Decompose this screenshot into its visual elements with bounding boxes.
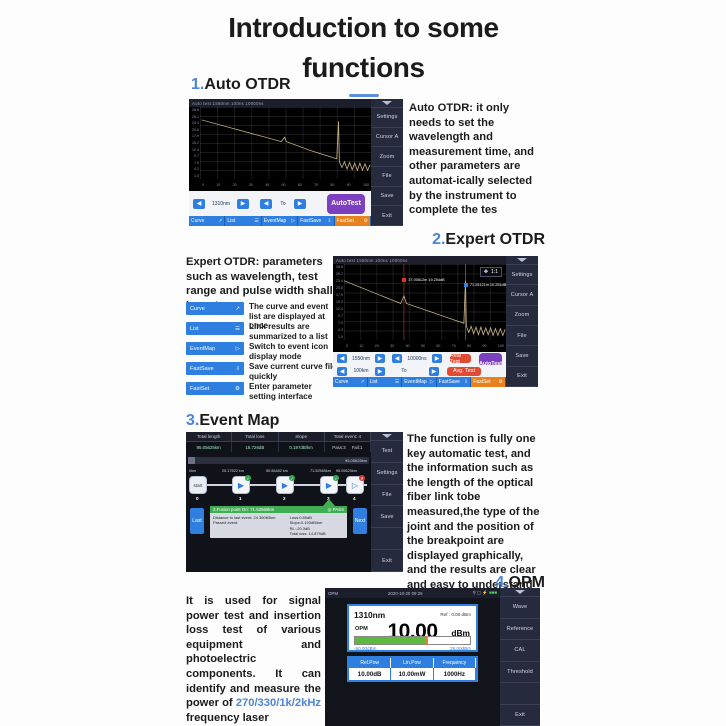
menu-item-settings[interactable]: Settings <box>371 108 403 128</box>
splice-icon: ▶ <box>238 481 244 490</box>
y-tick: 23.4 <box>192 121 199 125</box>
cursor-b-swatch <box>464 283 468 287</box>
summary-header-row: Total length Total loss Slope Total even… <box>186 432 371 442</box>
event-node-index-4: 4 <box>353 496 356 501</box>
opm-table-header-row: Rel.Pow Lin.Pow Frequency <box>349 658 476 668</box>
pulse-decrement-button[interactable]: ◀ <box>392 354 402 363</box>
header-total-event: Total event: 4 <box>325 432 371 442</box>
auto-otdr-statusbar: Auto test 1550nm 100ns 10000ns <box>189 99 371 107</box>
y-tick: 12.4 <box>336 307 343 311</box>
auto-otdr-tabbar: Curve↗ List☰ EventMap▷ FastSave⇩ FastSet… <box>189 216 371 226</box>
status-badge-pass: ✓ <box>245 475 251 481</box>
avg-test-button[interactable]: Avg. Test <box>447 367 481 376</box>
x-tick: 70 <box>452 344 456 348</box>
event-node-2[interactable]: ▶ ✓ <box>276 476 294 494</box>
x-tick: 30 <box>249 183 253 187</box>
event-node-label-0: 0km <box>189 469 196 473</box>
x-tick: 20 <box>375 344 379 348</box>
cursor-a-marker[interactable]: 37.00612m 19.254dB <box>402 278 444 282</box>
device-expert-otdr: Auto test 1550nm 100ns 10000ns 28.8 26.1… <box>333 256 538 387</box>
x-tick: 20 <box>233 183 237 187</box>
menu-item-exit[interactable]: Exit <box>506 367 538 387</box>
legend-chip-fastsave[interactable]: FastSave⇩ <box>186 362 244 375</box>
menu-item-settings[interactable]: Settings <box>371 463 403 485</box>
list-icon: ☰ <box>395 379 399 385</box>
x-tick: 10 <box>216 183 220 187</box>
save-icon: ⇩ <box>235 366 240 372</box>
wavelength-value: 1310nm <box>208 201 234 207</box>
tab-fastsave[interactable]: FastSave⇩ <box>437 377 472 387</box>
detail-right-column: Loss:0.85dB Slope:0.193dB/km RL:-20.3dB … <box>290 515 344 537</box>
legend-chip-list[interactable]: List☰ <box>186 322 244 335</box>
event-node-label-4: 95.05625km <box>336 469 357 473</box>
detail-total-loss: Total loss: 14.879dB <box>290 531 344 536</box>
y-tick: 17.9 <box>192 134 199 138</box>
tab-label: List <box>227 218 235 224</box>
opm-wavelength: 1310nm <box>354 610 385 620</box>
tab-fastsave[interactable]: FastSave⇩ <box>298 216 334 226</box>
time-increment-button[interactable]: ▶ <box>294 199 306 209</box>
cursor-b-label: 71.25121m 10.251dB <box>470 283 506 287</box>
real-test-button[interactable]: Real Test <box>450 354 471 363</box>
start-label: start <box>194 483 203 488</box>
menu-item-reference[interactable]: Reference <box>500 619 540 641</box>
usb-icon: ⚲ <box>472 590 475 595</box>
opm-mode-label: OPM <box>328 591 338 596</box>
value-rel-pow: 10.00dB <box>349 668 391 680</box>
header-slope: Slope <box>279 432 325 442</box>
legend-row-list: List☰ Link results are summarized to a l… <box>186 322 337 341</box>
tab-label: List <box>370 379 378 385</box>
event-node-1[interactable]: ▶ ✓ <box>232 476 250 494</box>
menu-item-threshold[interactable]: Threshold <box>500 662 540 684</box>
menu-item-cursor-a[interactable]: Cursor A <box>506 285 538 305</box>
legend-chip-fastset[interactable]: FastSet⚙ <box>186 382 244 395</box>
menu-item-exit[interactable]: Exit <box>371 206 403 226</box>
header-rel-pow: Rel.Pow <box>349 658 391 668</box>
wavelength-increment-button[interactable]: ▶ <box>237 199 249 209</box>
menu-item-settings[interactable]: Settings <box>506 265 538 285</box>
sd-card-icon: ▢ <box>477 590 481 595</box>
tab-curve[interactable]: Curve↗ <box>333 377 368 387</box>
opm-description: It is used for signal power test and ins… <box>186 594 321 725</box>
fail-count: Fail:1 <box>352 445 363 450</box>
wavelength-increment-button[interactable]: ▶ <box>375 354 385 363</box>
event-map-side-menu: Test Settings File Save Exit <box>371 432 403 572</box>
menu-item-file[interactable]: File <box>371 167 403 187</box>
device-auto-otdr: Auto test 1550nm 100ns 10000ns 28.8 26.1… <box>189 99 403 226</box>
selected-event-caret-icon <box>323 499 335 506</box>
opm-reference-value: Ref : 0.00 dBm <box>440 612 471 617</box>
opm-desc-highlight: 270/330/1k/2kHz <box>236 697 321 709</box>
wavelength-decrement-button[interactable]: ◀ <box>193 199 205 209</box>
y-tick: 26.1 <box>336 272 343 276</box>
autotest-button[interactable]: AutoTest <box>327 194 365 214</box>
x-tick: 30 <box>390 344 394 348</box>
map-icon: ▷ <box>236 346 240 352</box>
detail-header: 3.Fusion point Ori: 71.52565km ◎ PASS <box>210 506 347 513</box>
auto-otdr-x-axis: 0 10 20 30 40 50 60 70 80 90 100 <box>200 179 371 191</box>
menu-item-blank[interactable] <box>371 528 403 550</box>
section-number: 3. <box>186 412 199 429</box>
wavelength-decrement-button[interactable]: ◀ <box>337 354 347 363</box>
ratio-label: 1:1 <box>491 269 498 275</box>
tab-eventmap[interactable]: EventMap▷ <box>262 216 298 226</box>
expert-otdr-controls-row2: ◀ 100km ▶ To ▶ Avg. Test <box>333 365 506 377</box>
x-tick: 60 <box>298 183 302 187</box>
curve-icon: ↗ <box>218 218 222 224</box>
opm-side-menu: Wave Reference CAL Threshold Exit <box>500 588 540 726</box>
section-title: Auto OTDR <box>204 76 290 93</box>
x-tick: 100 <box>363 183 369 187</box>
y-tick: 28.8 <box>336 265 343 269</box>
next-event-button[interactable]: Next <box>353 508 367 534</box>
x-tick: 90 <box>347 183 351 187</box>
event-node-index-2: 2 <box>283 496 286 501</box>
event-node-label-3: 71.52565km <box>310 469 331 473</box>
menu-item-test[interactable]: Test <box>371 441 403 463</box>
fiber-length-bar[interactable]: 95.05625km <box>188 457 369 464</box>
time-range-separator: To <box>275 201 291 207</box>
expert-otdr-plot[interactable]: 37.00612m 19.254dB 71.25121m 10.251dB ✥ … <box>344 264 506 340</box>
auto-otdr-description: Auto OTDR: it only needs to set the wave… <box>409 101 535 218</box>
event-detail-panel: 3.Fusion point Ori: 71.52565km ◎ PASS Di… <box>210 506 347 538</box>
detail-status-badge: ◎ PASS <box>328 507 344 513</box>
legend-desc-fastsave: Save current curve file quickly <box>249 362 337 381</box>
section-title: Expert OTDR <box>445 231 545 248</box>
y-tick: 20.6 <box>192 128 199 132</box>
status-badge-fail: ✗ <box>359 475 365 481</box>
menu-item-exit[interactable]: Exit <box>371 550 403 572</box>
list-icon: ☰ <box>254 218 258 224</box>
cursor-a-label: 37.00612m 19.254dB <box>408 278 444 282</box>
pulse-increment-button[interactable]: ▶ <box>432 354 442 363</box>
menu-caret-icon[interactable] <box>371 99 403 108</box>
device-event-map: Total length Total loss Slope Total even… <box>186 432 403 572</box>
header-frequency: Frequency <box>434 658 476 668</box>
time-decrement-button[interactable]: ◀ <box>260 199 272 209</box>
expert-otdr-graph: 28.8 26.1 23.4 20.6 17.9 15.2 12.4 9.7 7… <box>333 264 506 352</box>
y-tick: 23.4 <box>336 279 343 283</box>
menu-caret-icon[interactable] <box>500 588 540 597</box>
save-icon: ⇩ <box>327 218 331 224</box>
opm-statusbar: OPM 2020-10-20 09:25 ⚲ ▢ ⚡ ■■■ <box>325 588 500 598</box>
x-tick: 40 <box>265 183 269 187</box>
tab-list[interactable]: List☰ <box>368 377 403 387</box>
y-tick: 26.1 <box>192 115 199 119</box>
expert-otdr-y-axis: 28.8 26.1 23.4 20.6 17.9 15.2 12.4 9.7 7… <box>333 264 344 340</box>
y-tick: 9.7 <box>338 314 343 318</box>
last-event-button[interactable]: Last <box>190 508 204 534</box>
range-to-increment-button[interactable]: ▶ <box>429 367 439 376</box>
cursor-b-marker[interactable]: 71.25121m 10.251dB <box>464 283 506 287</box>
device-opm: OPM 2020-10-20 09:25 ⚲ ▢ ⚡ ■■■ 1310nm Re… <box>325 588 540 726</box>
x-tick: 70 <box>314 183 318 187</box>
menu-caret-icon[interactable] <box>371 432 403 441</box>
summary-value-row: 95.05625km 18.726dB 0.197dB/km Pass:3 Fa… <box>186 442 371 452</box>
bar-fill <box>188 457 195 464</box>
opm-screen: OPM 2020-10-20 09:25 ⚲ ▢ ⚡ ■■■ 1310nm Re… <box>325 588 500 726</box>
legend-row-fastsave: FastSave⇩ Save current curve file quickl… <box>186 362 337 381</box>
section-number: 2. <box>432 231 445 248</box>
y-tick: 1.5 <box>338 335 343 339</box>
menu-item-wave[interactable]: Wave <box>500 597 540 619</box>
map-icon: ▷ <box>430 379 434 385</box>
y-tick: 1.5 <box>194 174 199 178</box>
value-lin-pow: 10.00mW <box>391 668 433 680</box>
opm-datetime: 2020-10-20 09:25 <box>388 591 423 596</box>
opm-reading-card: 1310nm Ref : 0.00 dBm OPM 10.00 dBm -50.… <box>347 604 478 652</box>
event-map-screen: Total length Total loss Slope Total even… <box>186 432 371 572</box>
gauge-min-label: -50.00dBm <box>354 646 376 651</box>
detail-title: 3.Fusion point Ori: 71.52565km <box>213 507 274 512</box>
breakpoint-icon: ▷ <box>352 481 358 490</box>
gear-icon: ⚙ <box>364 218 368 224</box>
x-tick: 50 <box>421 344 425 348</box>
section-heading-event-map: 3.Event Map <box>186 412 279 430</box>
save-icon: ⇩ <box>464 379 468 385</box>
tab-eventmap[interactable]: EventMap▷ <box>402 377 437 387</box>
x-tick: 100 <box>498 344 504 348</box>
detail-status-label: PASS <box>333 507 344 512</box>
tab-curve[interactable]: Curve↗ <box>189 216 225 226</box>
event-node-label-1: 25.17522 km <box>222 469 244 473</box>
menu-item-exit[interactable]: Exit <box>500 705 540 726</box>
section-heading-expert-otdr: 2.Expert OTDR <box>432 231 545 249</box>
status-badge-pass: ✓ <box>289 475 295 481</box>
event-node-index-0: 0 <box>196 496 199 501</box>
y-tick: 9.7 <box>194 154 199 158</box>
splice-icon: ▶ <box>282 481 288 490</box>
y-tick: 15.2 <box>336 300 343 304</box>
opm-desc-part2: frequency laser <box>186 712 269 724</box>
chip-label: List <box>190 326 199 332</box>
y-tick: 7.0 <box>194 161 199 165</box>
opm-measurement-table: Rel.Pow Lin.Pow Frequency 10.00dB 10.00m… <box>347 656 478 682</box>
expert-otdr-tabbar: Curve↗ List☰ EventMap▷ FastSave⇩ FastSet… <box>333 377 506 387</box>
x-tick: 80 <box>467 344 471 348</box>
curve-icon: ↗ <box>235 306 240 312</box>
event-node-3[interactable]: ▶ ✓ <box>320 476 338 494</box>
zoom-ratio-indicator[interactable]: ✥ 1:1 <box>480 267 502 277</box>
expert-otdr-controls-row1: ◀ 1550nm ▶ ◀ 10000ns ▶ Real Test AutoTes… <box>333 352 506 365</box>
opm-table-value-row: 10.00dB 10.00mW 1000Hz <box>349 668 476 680</box>
x-tick: 40 <box>406 344 410 348</box>
tab-label: Curve <box>191 218 204 224</box>
section-number: 1. <box>191 76 204 93</box>
chip-label: EventMap <box>190 346 215 352</box>
detail-left-column: Distance to last event: 24.36063km Passe… <box>213 515 284 537</box>
y-tick: 7.0 <box>338 321 343 325</box>
auto-otdr-plot[interactable] <box>200 107 371 179</box>
legend-desc-list: Link results are summarized to a list <box>249 322 337 341</box>
x-tick: 50 <box>281 183 285 187</box>
pulse-value: 10000ns <box>405 356 429 362</box>
menu-item-zoom[interactable]: Zoom <box>506 306 538 326</box>
curve-icon: ↗ <box>360 379 364 385</box>
value-frequency: 1000Hz <box>434 668 476 680</box>
status-badge-pass: ✓ <box>333 475 339 481</box>
gear-icon: ⚙ <box>498 379 502 385</box>
tab-label: EventMap <box>264 218 287 224</box>
value-slope: 0.197dB/km <box>279 442 325 452</box>
section-heading-auto-otdr: 1.Auto OTDR <box>191 76 291 94</box>
legend-desc-fastset: Enter parameter setting interface <box>249 382 337 401</box>
list-icon: ☰ <box>235 326 240 332</box>
event-map-description: The function is fully one key automatic … <box>407 432 540 593</box>
value-total-length: 95.05625km <box>186 442 232 452</box>
charge-icon: ⚡ <box>482 590 487 595</box>
range-value: 100km <box>350 368 372 374</box>
legend-desc-eventmap: Switch to event icon display mode <box>249 342 337 361</box>
x-tick: 90 <box>483 344 487 348</box>
auto-otdr-screen: Auto test 1550nm 100ns 10000ns 28.8 26.1… <box>189 99 371 226</box>
opm-power-gauge <box>354 636 471 645</box>
legend-row-eventmap: EventMap▷ Switch to event icon display m… <box>186 342 337 361</box>
menu-item-zoom[interactable]: Zoom <box>371 147 403 167</box>
x-tick: 0 <box>346 344 348 348</box>
splice-icon: ▶ <box>326 481 332 490</box>
range-decrement-button[interactable]: ◀ <box>337 367 347 376</box>
auto-otdr-side-menu: Settings Cursor A Zoom File Save Exit <box>371 99 403 226</box>
menu-item-file[interactable]: File <box>506 326 538 346</box>
tab-label: EventMap <box>404 379 427 385</box>
header-lin-pow: Lin.Pow <box>391 658 433 668</box>
y-tick: 28.8 <box>192 108 199 112</box>
tab-list[interactable]: List☰ <box>225 216 261 226</box>
tab-label: FastSet <box>337 218 354 224</box>
range-separator: To <box>392 368 416 374</box>
menu-item-file[interactable]: File <box>371 485 403 507</box>
detail-body: Distance to last event: 24.36063km Passe… <box>210 513 347 538</box>
pass-count: Pass:3 <box>332 445 345 450</box>
page-root: Introduction to some functions 1.Auto OT… <box>0 0 726 726</box>
legend-chip-eventmap[interactable]: EventMap▷ <box>186 342 244 355</box>
expert-otdr-statusbar: Auto test 1550nm 100ns 10000ns <box>333 256 506 264</box>
y-tick: 17.9 <box>336 293 343 297</box>
expert-otdr-screen: Auto test 1550nm 100ns 10000ns 28.8 26.1… <box>333 256 506 387</box>
menu-caret-icon[interactable] <box>506 256 538 265</box>
tab-label: FastSet <box>473 379 490 385</box>
x-tick: 10 <box>359 344 363 348</box>
range-increment-button[interactable]: ▶ <box>375 367 385 376</box>
expand-icon: ✥ <box>484 269 488 275</box>
opm-desc-part1: It is used for signal power test and ins… <box>186 595 321 709</box>
tab-label: FastSave <box>300 218 321 224</box>
gauge-needle <box>426 636 428 645</box>
tab-label: FastSave <box>439 379 460 385</box>
chip-label: FastSave <box>190 366 214 372</box>
auto-otdr-graph: 28.8 26.1 23.4 20.6 17.9 15.2 12.4 9.7 7… <box>189 107 371 191</box>
y-tick: 12.4 <box>192 148 199 152</box>
header-total-length: Total length <box>186 432 232 442</box>
tab-fastset[interactable]: FastSet⚙ <box>335 216 371 226</box>
expert-otdr-side-menu: Settings Cursor A Zoom File Save Exit <box>506 256 538 387</box>
value-pass-fail: Pass:3 Fail:1 <box>325 442 371 452</box>
battery-icon: ■■■ <box>489 590 497 595</box>
event-node-index-1: 1 <box>239 496 242 501</box>
event-node-start[interactable]: start <box>189 476 207 494</box>
bar-length-label: 95.05625km <box>345 457 367 464</box>
opm-gauge-range: -50.00dBm 26.00dBm <box>354 646 471 651</box>
header-total-loss: Total loss <box>232 432 278 442</box>
detail-passed: Passed event. <box>213 520 284 525</box>
y-tick: 4.3 <box>338 328 343 332</box>
menu-item-save[interactable]: Save <box>371 506 403 528</box>
cursor-a-swatch <box>402 278 406 282</box>
x-tick: 60 <box>436 344 440 348</box>
wavelength-value: 1550nm <box>350 356 372 362</box>
auto-otdr-y-axis: 28.8 26.1 23.4 20.6 17.9 15.2 12.4 9.7 7… <box>189 107 200 179</box>
menu-item-cal[interactable]: CAL <box>500 640 540 662</box>
y-tick: 4.3 <box>194 167 199 171</box>
chip-label: Curve <box>190 306 205 312</box>
section-title: Event Map <box>199 412 279 429</box>
menu-item-blank[interactable] <box>500 683 540 705</box>
legend-row-fastset: FastSet⚙ Enter parameter setting interfa… <box>186 382 337 401</box>
event-node-4[interactable]: ▷ ✗ <box>346 476 364 494</box>
event-map-summary-table: Total length Total loss Slope Total even… <box>186 432 371 454</box>
otdr-trace <box>200 107 371 179</box>
expert-otdr-x-axis: 0 10 20 30 40 50 60 70 80 90 100 <box>344 340 506 352</box>
value-total-loss: 18.726dB <box>232 442 278 452</box>
y-tick: 20.6 <box>336 286 343 290</box>
menu-item-cursor-a[interactable]: Cursor A <box>371 128 403 148</box>
tab-fastset[interactable]: FastSet⚙ <box>471 377 506 387</box>
menu-item-save[interactable]: Save <box>506 346 538 366</box>
event-node-label-2: 50.56482 km <box>266 469 288 473</box>
gauge-max-label: 26.00dBm <box>450 646 471 651</box>
gear-icon: ⚙ <box>235 386 240 392</box>
x-tick: 0 <box>202 183 204 187</box>
auto-otdr-controls: ◀ 1310nm ▶ ◀ To ▶ AutoTest <box>189 191 371 216</box>
x-tick: 80 <box>330 183 334 187</box>
y-tick: 15.2 <box>192 141 199 145</box>
tab-label: Curve <box>335 379 348 385</box>
menu-item-save[interactable]: Save <box>371 187 403 207</box>
legend-chip-curve[interactable]: Curve↗ <box>186 302 244 315</box>
opm-status-icons: ⚲ ▢ ⚡ ■■■ <box>472 590 497 596</box>
title-underline <box>349 94 379 97</box>
map-icon: ▷ <box>291 218 295 224</box>
chip-label: FastSet <box>190 386 209 392</box>
gauge-fill <box>355 637 426 644</box>
